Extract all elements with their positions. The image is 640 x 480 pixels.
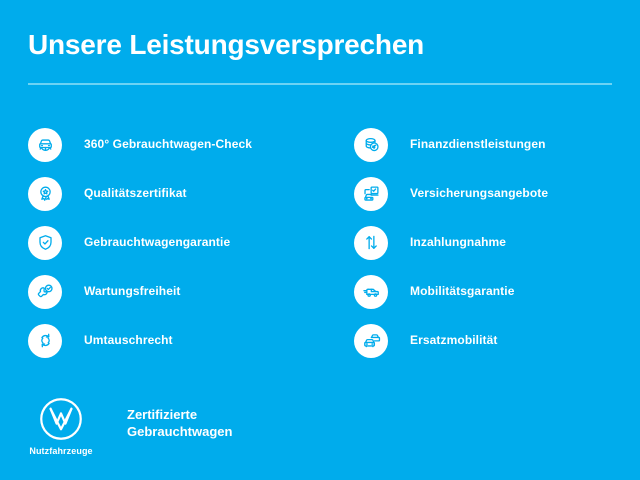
brand-block: Nutzfahrzeuge (25, 396, 97, 456)
promise-item[interactable]: Qualitätszertifikat (28, 169, 354, 218)
promise-item[interactable]: Umtauschrecht (28, 316, 354, 365)
promise-label: Qualitätszertifikat (84, 186, 187, 201)
title-divider (28, 83, 612, 85)
promise-item[interactable]: Ersatzmobilität (354, 316, 612, 365)
two-cars-icon (354, 324, 388, 358)
coins-euro-icon (354, 128, 388, 162)
quality-seal-icon (28, 177, 62, 211)
promise-item[interactable]: Finanzdienstleistungen (354, 120, 612, 169)
page-title: Unsere Leistungsversprechen (28, 28, 612, 62)
footer: Nutzfahrzeuge Zertifizierte Gebrauchtwag… (25, 396, 232, 456)
up-down-arrows-icon (354, 226, 388, 260)
wrench-check-icon (28, 275, 62, 309)
promise-label: 360° Gebrauchtwagen-Check (84, 137, 252, 152)
promises-grid: 360° Gebrauchtwagen-Check Qualitätszerti… (28, 120, 612, 365)
header: Unsere Leistungsversprechen (28, 28, 612, 85)
promise-label: Umtauschrecht (84, 333, 173, 348)
footer-claim-line2: Gebrauchtwagen (127, 423, 232, 440)
exchange-arrows-icon (28, 324, 62, 358)
promises-right-column: Finanzdienstleistungen Versicherungsange… (354, 120, 612, 365)
car-inspection-icon (28, 128, 62, 162)
promise-panel: Unsere Leistungsversprechen (0, 0, 640, 480)
promise-label: Gebrauchtwagengarantie (84, 235, 230, 250)
promise-label: Mobilitätsgarantie (410, 284, 514, 299)
promise-item[interactable]: Versicherungsangebote (354, 169, 612, 218)
promise-label: Inzahlungnahme (410, 235, 506, 250)
promise-item[interactable]: Gebrauchtwagengarantie (28, 218, 354, 267)
promise-label: Ersatzmobilität (410, 333, 498, 348)
car-checklist-icon (354, 177, 388, 211)
volkswagen-logo (38, 396, 84, 442)
promise-label: Versicherungsangebote (410, 186, 548, 201)
brand-subline: Nutzfahrzeuge (29, 446, 92, 456)
promise-item[interactable]: Wartungsfreiheit (28, 267, 354, 316)
promise-label: Finanzdienstleistungen (410, 137, 546, 152)
service-van-icon (354, 275, 388, 309)
promises-left-column: 360° Gebrauchtwagen-Check Qualitätszerti… (28, 120, 354, 365)
footer-claim-line1: Zertifizierte (127, 406, 232, 423)
promise-label: Wartungsfreiheit (84, 284, 181, 299)
promise-item[interactable]: 360° Gebrauchtwagen-Check (28, 120, 354, 169)
promise-item[interactable]: Inzahlungnahme (354, 218, 612, 267)
shield-check-icon (28, 226, 62, 260)
footer-claim: Zertifizierte Gebrauchtwagen (127, 406, 232, 440)
promise-item[interactable]: Mobilitätsgarantie (354, 267, 612, 316)
